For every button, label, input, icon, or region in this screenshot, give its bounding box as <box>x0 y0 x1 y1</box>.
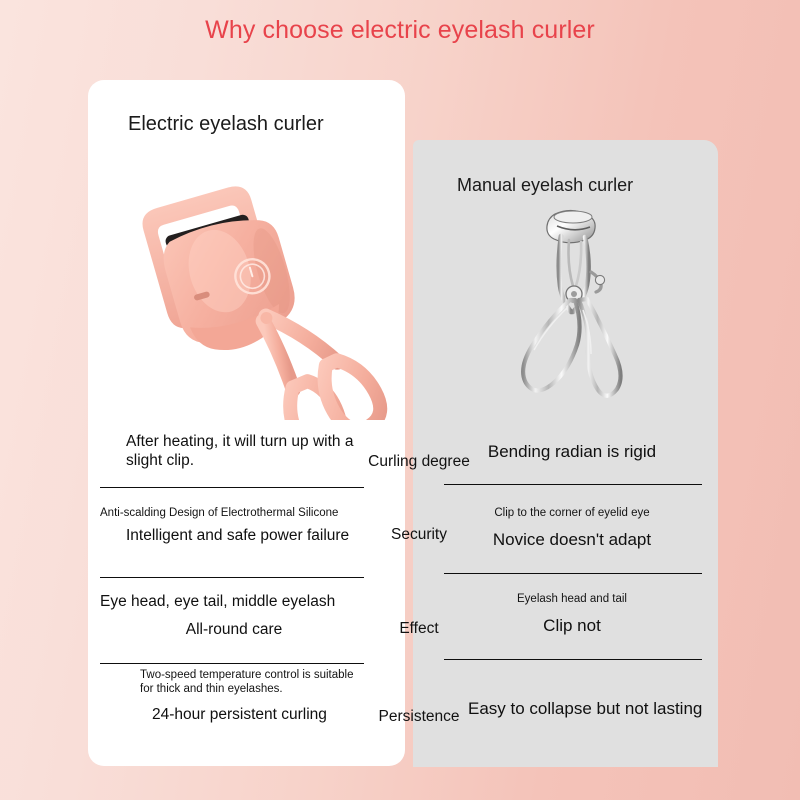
row-1-left-small: Anti-scalding Design of Electrothermal S… <box>100 506 368 520</box>
row-3-right-main: Easy to collapse but not lasting <box>438 698 706 719</box>
page-title: Why choose electric eyelash curler <box>0 16 800 45</box>
row-2-left-main: All-round care <box>100 620 368 639</box>
row-0-right-main: Bending radian is rigid <box>438 441 706 462</box>
row-2-left-small: Eye head, eye tail, middle eyelash <box>100 592 368 611</box>
row-1-right-cell: Clip to the corner of eyelid eye Novice … <box>438 506 706 550</box>
row-0-left-main: After heating, it will turn up with a sl… <box>100 432 368 470</box>
row-3-left-main: 24-hour persistent curling <box>100 705 368 724</box>
infographic-page: Why choose electric eyelash curler Manua… <box>0 0 800 800</box>
row-0-right-cell: Bending radian is rigid <box>438 432 706 462</box>
row-1-right-small: Clip to the corner of eyelid eye <box>438 506 706 520</box>
electric-eyelash-curler-icon <box>108 160 388 420</box>
manual-card-heading: Manual eyelash curler <box>457 175 633 196</box>
row-0-left-cell: After heating, it will turn up with a sl… <box>100 432 368 470</box>
row-3-left-cell: Two-speed temperature control is suitabl… <box>100 668 368 724</box>
row-2-left-cell: Eye head, eye tail, middle eyelash All-r… <box>100 592 368 639</box>
row-2-right-small: Eyelash head and tail <box>438 592 706 606</box>
row-1-left-cell: Anti-scalding Design of Electrothermal S… <box>100 506 368 545</box>
row-3-right-cell: Easy to collapse but not lasting <box>438 668 706 719</box>
manual-eyelash-curler-icon <box>473 200 653 415</box>
electric-card-heading: Electric eyelash curler <box>128 113 324 136</box>
row-2-right-cell: Eyelash head and tail Clip not <box>438 592 706 636</box>
electric-curler-card: Electric eyelash curler <box>88 80 405 766</box>
row-2-right-main: Clip not <box>438 615 706 636</box>
row-1-right-main: Novice doesn't adapt <box>438 529 706 550</box>
row-3-left-small: Two-speed temperature control is suitabl… <box>100 668 368 696</box>
row-1-left-main: Intelligent and safe power failure <box>100 526 368 545</box>
